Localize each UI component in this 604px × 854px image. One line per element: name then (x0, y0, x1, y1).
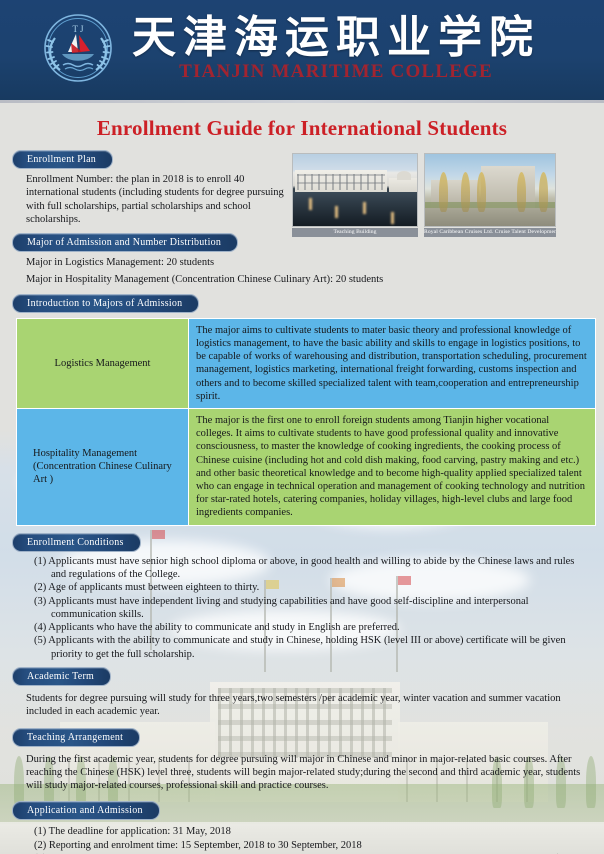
photo-light-glow (309, 198, 312, 210)
tree-icon (461, 172, 470, 212)
enrollment-conditions-list: (1) Applicants must have senior high sch… (12, 555, 592, 661)
major-distribution-body: Major in Logistics Management: 20 studen… (12, 256, 284, 269)
major-distribution-body-2: Major in Hospitality Management (Concent… (12, 273, 592, 286)
teaching-arrangement-paragraph: During the first academic year, students… (26, 753, 592, 793)
intro-row: Enrollment Plan Enrollment Number: the p… (12, 149, 592, 275)
college-crest-icon: T J (38, 8, 118, 88)
tree-icon (517, 172, 526, 212)
photo-caption: Royal Caribbean Cruises Ltd. Cruise Tale… (424, 228, 556, 237)
photo-light-glow (363, 202, 366, 214)
section-heading-enrollment-conditions: Enrollment Conditions (12, 533, 141, 552)
application-admission-list: (1) The deadline for application: 31 May… (12, 825, 592, 854)
intro-text-column: Enrollment Plan Enrollment Number: the p… (12, 149, 284, 275)
major-description-cell: The major is the first one to enroll for… (189, 409, 596, 526)
table-row: Logistics Management The major aims to c… (17, 318, 596, 408)
teaching-building-image (292, 153, 418, 227)
table-row: Hospitality Management (Concentration Ch… (17, 409, 596, 526)
list-item: (1) Applicants must have senior high sch… (34, 555, 592, 582)
cruise-center-image (424, 153, 556, 227)
section-heading-application-admission: Application and Admission (12, 801, 160, 820)
cruise-talent-center-photo: Royal Caribbean Cruises Ltd. Cruise Tale… (424, 153, 556, 237)
list-item: (2) Reporting and enrolment time: 15 Sep… (34, 839, 592, 852)
photo-dome-shape (397, 171, 411, 180)
section-heading-intro-majors: Introduction to Majors of Admission (12, 294, 199, 313)
tree-icon (539, 172, 548, 212)
academic-term-paragraph: Students for degree pursuing will study … (26, 692, 592, 719)
major-name-cell: Hospitality Management (Concentration Ch… (17, 409, 189, 526)
photo-light-glow (391, 212, 394, 224)
list-item: (2) Age of applicants must between eight… (34, 581, 592, 594)
academic-term-body: Students for degree pursuing will study … (12, 692, 592, 719)
section-heading-academic-term: Academic Term (12, 667, 111, 686)
photo-window-grid (297, 174, 385, 190)
enrollment-plan-body: Enrollment Number: the plan in 2018 is t… (12, 173, 284, 226)
page-title: Enrollment Guide for International Stude… (12, 116, 592, 141)
poster-page: T J 天津海运职业学院 TIANJIN MARITIME COLLEGE (0, 0, 604, 854)
photo-light-glow (335, 206, 338, 218)
major-line: Major in Hospitality Management (Concent… (26, 273, 592, 286)
svg-text:T J: T J (72, 24, 84, 34)
college-name-chinese: 天津海运职业学院 (132, 13, 540, 64)
photo-caption: Teaching Building (292, 228, 418, 237)
enrollment-plan-paragraph: Enrollment Number: the plan in 2018 is t… (26, 173, 284, 226)
photo-strip: Teaching Building Royal Caribbea (292, 149, 592, 237)
banner-bottom-rule (0, 100, 604, 103)
list-item: (4) Applicants who have the ability to c… (34, 621, 592, 634)
section-heading-enrollment-plan: Enrollment Plan (12, 150, 113, 169)
photo-building-shape (389, 178, 417, 192)
tree-icon (439, 172, 448, 212)
major-name-cell: Logistics Management (17, 318, 189, 408)
majors-table: Logistics Management The major aims to c… (16, 318, 596, 526)
teaching-arrangement-body: During the first academic year, students… (12, 753, 592, 793)
list-item: (1) The deadline for application: 31 May… (34, 825, 592, 838)
section-heading-teaching-arrangement: Teaching Arrangement (12, 728, 140, 747)
college-name-english: TIANJIN MARITIME COLLEGE (132, 61, 540, 83)
tree-icon (477, 172, 486, 212)
college-banner: T J 天津海运职业学院 TIANJIN MARITIME COLLEGE (0, 0, 604, 103)
major-line: Major in Logistics Management: 20 studen… (26, 256, 284, 269)
poster-content: Enrollment Guide for International Stude… (0, 116, 604, 854)
section-heading-major-distribution: Major of Admission and Number Distributi… (12, 233, 238, 252)
teaching-building-photo: Teaching Building (292, 153, 418, 237)
major-description-cell: The major aims to cultivate students to … (189, 318, 596, 408)
list-item: (3) Applicants must have independent liv… (34, 595, 592, 622)
list-item: (5) Applicants with the ability to commu… (34, 634, 592, 661)
